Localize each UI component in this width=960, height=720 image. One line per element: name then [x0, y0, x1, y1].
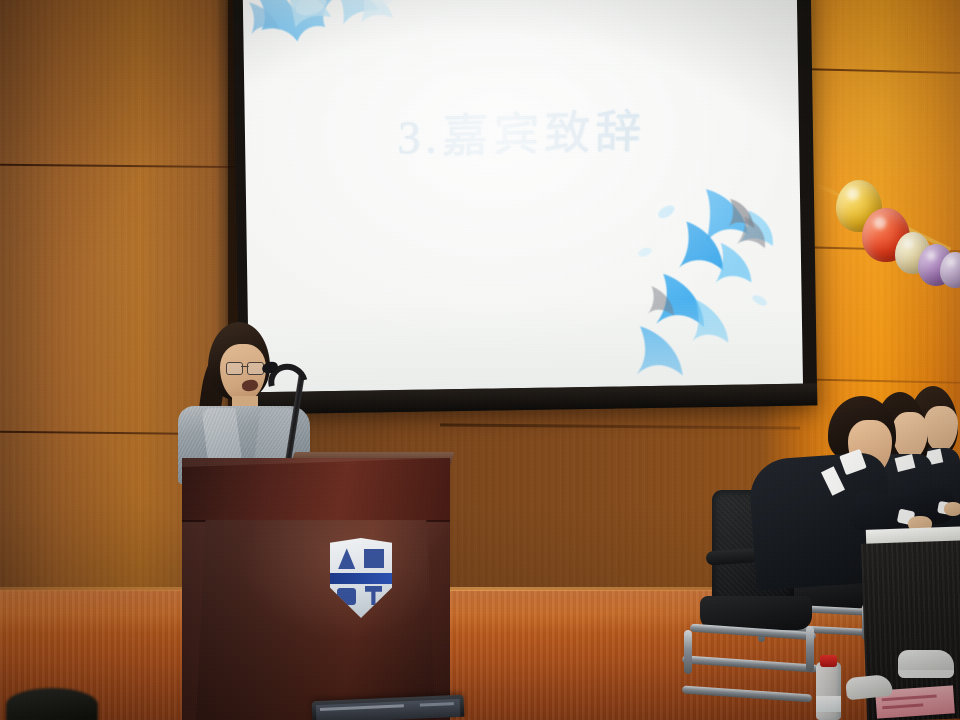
glasses-icon	[226, 362, 264, 373]
screen-glare	[243, 0, 803, 392]
laptop-screen	[316, 699, 461, 720]
projection-screen: 3.嘉宾致辞	[243, 0, 803, 392]
bottle-cap	[820, 655, 837, 667]
bottle-label	[816, 696, 841, 712]
podium-front-panel	[196, 520, 436, 720]
sneaker-sole	[898, 670, 954, 678]
podium-upper-panel	[182, 458, 450, 522]
auditorium-photo: 3.嘉宾致辞	[0, 0, 960, 720]
balloon-lilac	[940, 252, 960, 288]
audience-head-foreground	[6, 688, 98, 720]
projection-screen-frame: 3.嘉宾致辞	[233, 0, 818, 415]
